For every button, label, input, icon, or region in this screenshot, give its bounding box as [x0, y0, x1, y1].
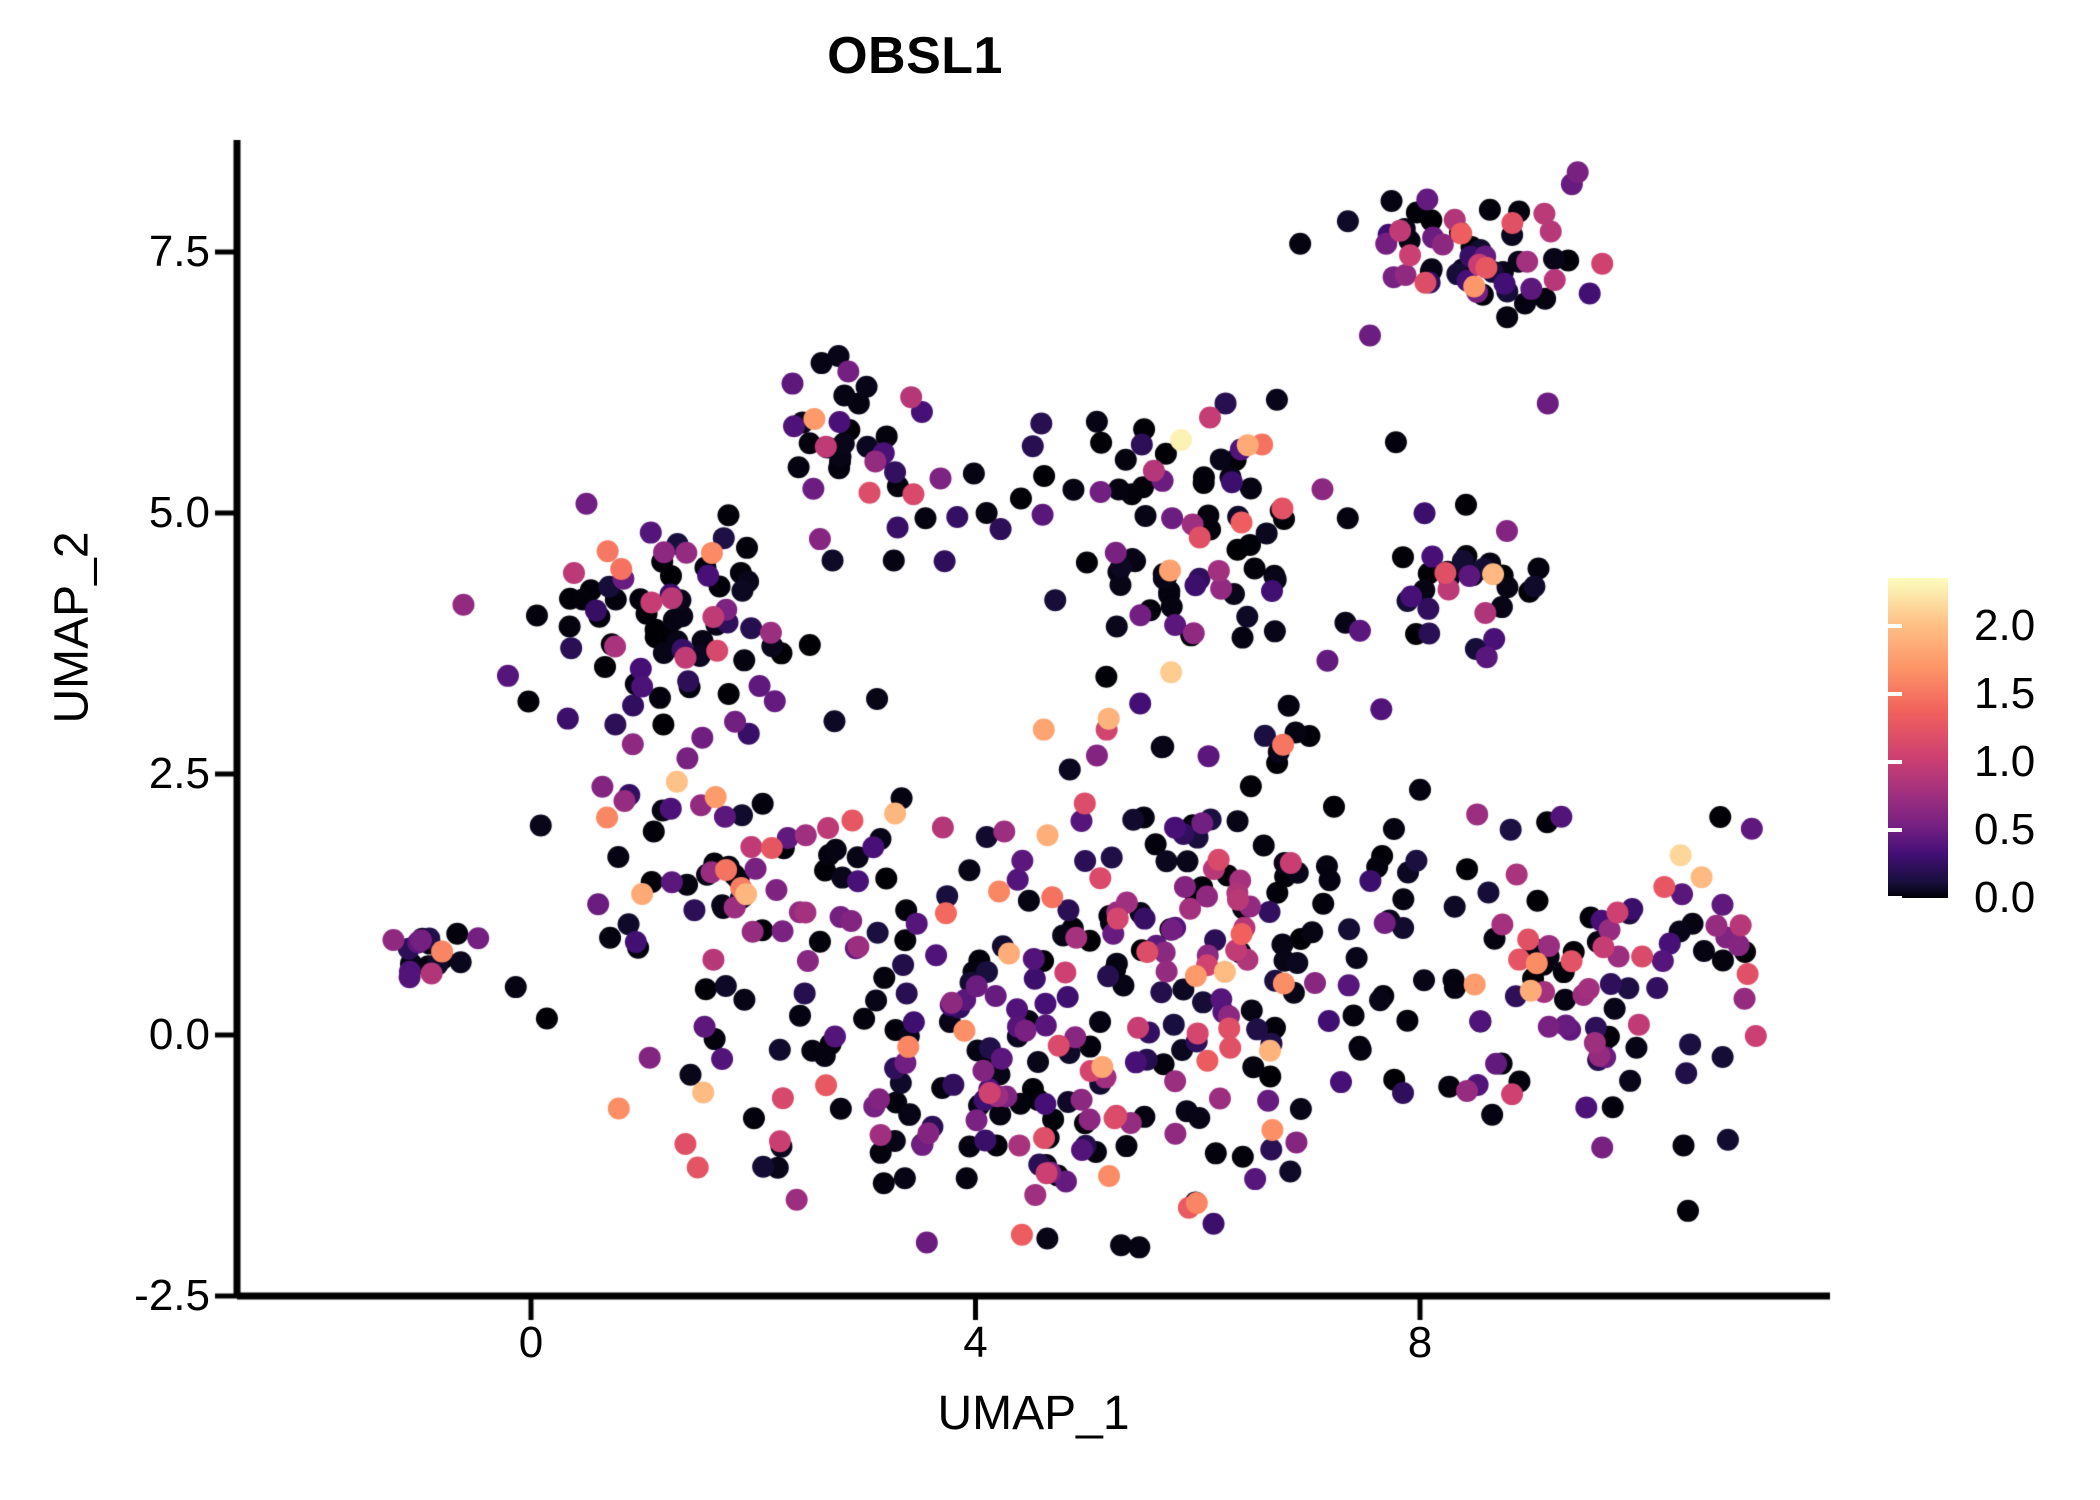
x-axis-label: UMAP_1	[237, 1386, 1830, 1441]
y-tick-label: 2.5	[70, 749, 210, 799]
umap-feature-plot: OBSL1 UMAP_2 UMAP_1 -2.50.02.55.07.5 048…	[0, 0, 2100, 1500]
colorbar-tick	[1888, 828, 1902, 832]
colorbar-tick	[1888, 896, 1902, 900]
x-axis-tick-labels: 048	[0, 1318, 2100, 1388]
y-tick-label: 7.5	[70, 227, 210, 277]
x-tick-label: 0	[471, 1318, 591, 1368]
y-axis-tick-labels: -2.50.02.55.07.5	[60, 0, 210, 1500]
scatter-plot-canvas	[0, 0, 2100, 1500]
colorbar-tick	[1888, 692, 1902, 696]
colorbar-tick	[2074, 828, 2088, 832]
colorbar-tick-label: 0.5	[1974, 805, 2035, 855]
colorbar-tick	[1888, 760, 1902, 764]
y-tick-label: -2.5	[70, 1271, 210, 1321]
colorbar-tick	[1888, 624, 1902, 628]
y-tick-label: 0.0	[70, 1010, 210, 1060]
color-legend: 0.00.51.01.52.0	[1888, 578, 2088, 908]
x-tick-label: 8	[1360, 1318, 1480, 1368]
colorbar-tick-label: 2.0	[1974, 601, 2035, 651]
colorbar-tick	[2074, 896, 2088, 900]
colorbar-tick-label: 0.0	[1974, 873, 2035, 923]
x-tick-label: 4	[916, 1318, 1036, 1368]
colorbar-tick	[2074, 624, 2088, 628]
colorbar-tick	[2074, 760, 2088, 764]
y-tick-label: 5.0	[70, 488, 210, 538]
colorbar-tick-label: 1.0	[1974, 737, 2035, 787]
colorbar-tick	[2074, 692, 2088, 696]
colorbar-tick-label: 1.5	[1974, 669, 2035, 719]
